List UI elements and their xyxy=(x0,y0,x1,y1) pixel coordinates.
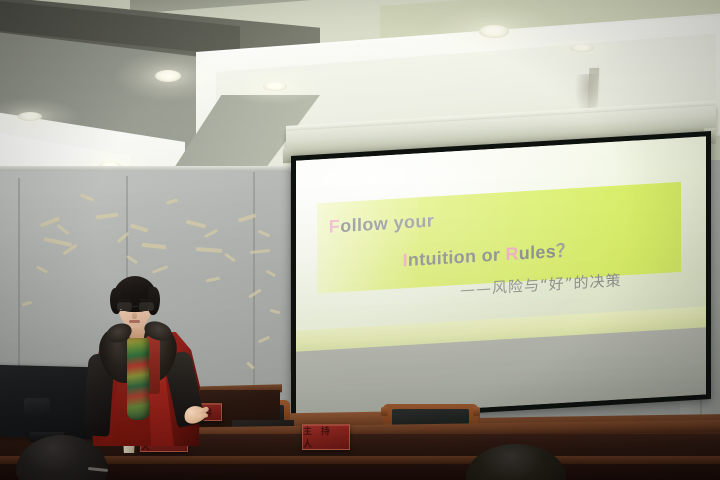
eyeglasses-bridge xyxy=(133,306,138,307)
housing-endcap-left xyxy=(283,149,291,163)
eyeglasses-lens-left xyxy=(117,302,132,311)
nameplate: 主 持 人 xyxy=(302,424,350,450)
ceiling-downlight-icon xyxy=(263,82,287,91)
ceiling-downlight-icon xyxy=(479,25,509,38)
chair-arm-left xyxy=(381,407,388,416)
presenter-nose xyxy=(132,312,137,319)
monitor-mount xyxy=(24,398,50,420)
wall-top-moulding xyxy=(0,166,300,171)
eyeglasses-icon xyxy=(117,302,154,311)
dais-ledge xyxy=(0,456,720,464)
chair-arm-right xyxy=(473,407,480,416)
ceiling-downlight-icon xyxy=(18,112,42,121)
slide-title-accent-f: F xyxy=(329,216,340,237)
eyeglasses-lens-right xyxy=(139,302,154,311)
ceiling-downlight-icon xyxy=(155,70,181,82)
slide-title-line-2-rest: ules xyxy=(519,241,556,263)
projection-screen[interactable]: Follow your Intuition or Rules？ ——风险与“好”… xyxy=(291,131,711,424)
slide-title-accent-r: R xyxy=(505,243,518,264)
slide-title-question-mark: ？ xyxy=(556,240,574,261)
slide-title-line-2-mid: ntuition or xyxy=(408,244,506,270)
photograph-scene: ProjectScreen Follow your Intuition or R… xyxy=(0,0,720,480)
ceiling-downlight-icon xyxy=(570,44,594,52)
presenter-scarf xyxy=(127,338,149,420)
presenter xyxy=(84,276,206,446)
screen-surface: Follow your Intuition or Rules？ ——风险与“好”… xyxy=(296,136,706,418)
nameplate-text: 主 持 人 xyxy=(303,424,349,450)
slide-title-line-1-rest: ollow your xyxy=(340,211,434,237)
presenter-mouth xyxy=(129,320,140,323)
